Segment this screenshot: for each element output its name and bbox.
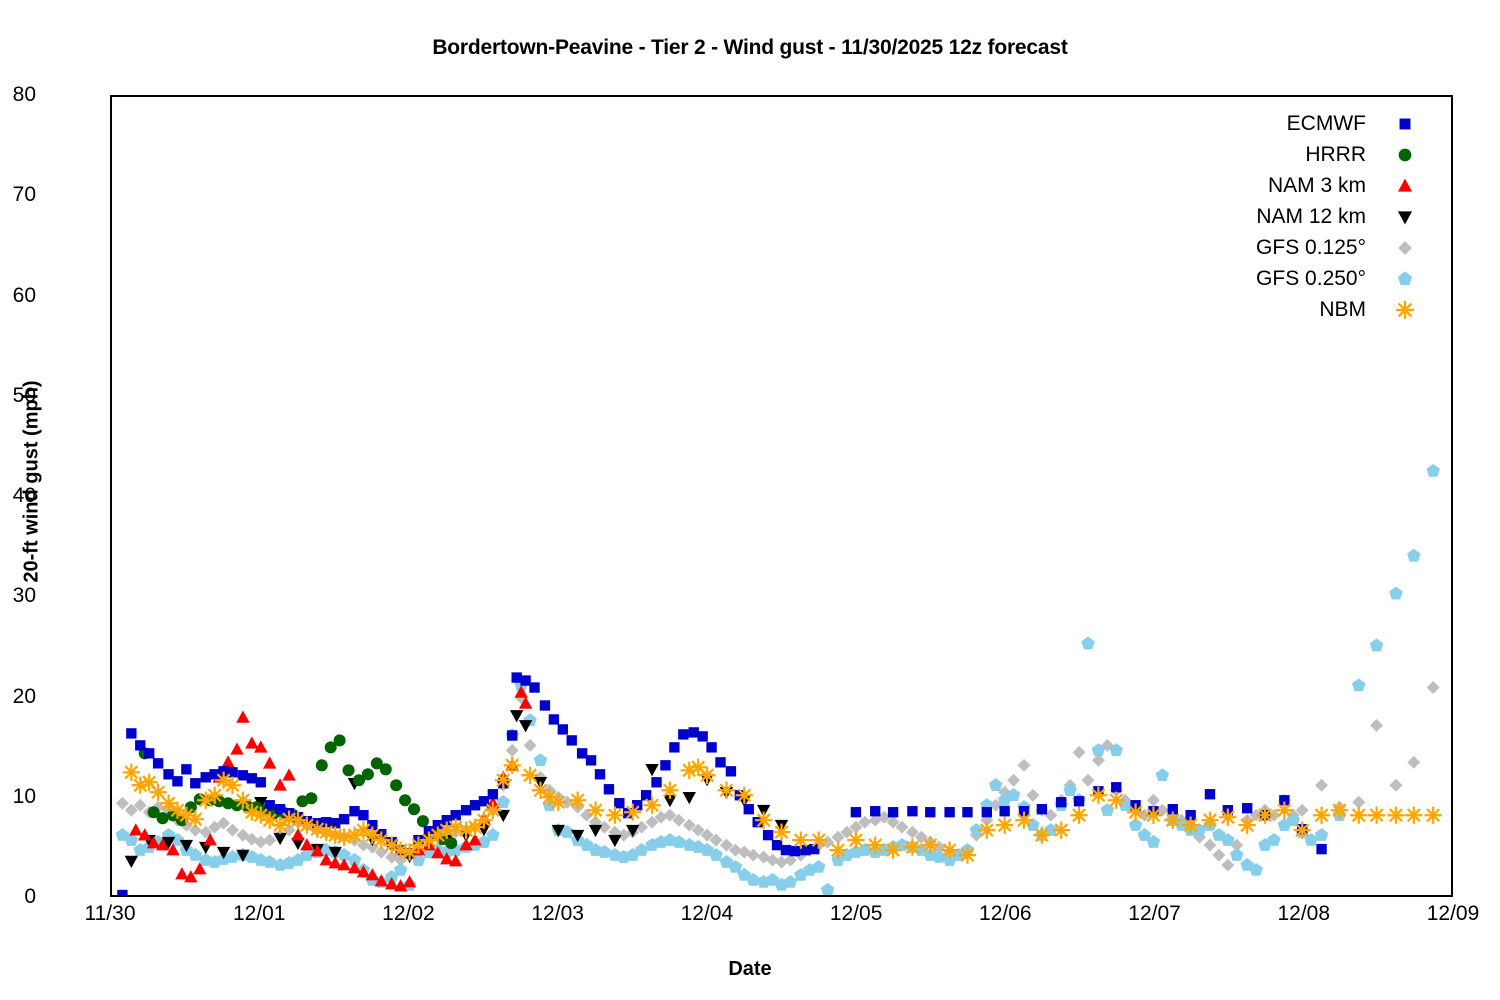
legend-label: GFS 0.125° (1256, 236, 1392, 260)
x-axis-label: Date (0, 958, 1500, 981)
legend-item-nam-3-km[interactable]: NAM 3 km (1150, 170, 1418, 201)
chart-root: Bordertown-Peavine - Tier 2 - Wind gust … (0, 0, 1500, 1000)
legend-marker-diamond-icon (1392, 236, 1418, 260)
y-tick-label: 10 (0, 785, 36, 809)
x-tick-label: 12/05 (776, 902, 936, 926)
x-tick-label: 12/08 (1224, 902, 1384, 926)
legend-label: NAM 3 km (1268, 174, 1392, 198)
legend-item-gfs-0-250[interactable]: GFS 0.250° (1150, 263, 1418, 294)
legend-item-gfs-0-125[interactable]: GFS 0.125° (1150, 232, 1418, 263)
x-tick-label: 12/06 (925, 902, 1085, 926)
legend-marker-pentagon-icon (1392, 267, 1418, 291)
legend-label: GFS 0.250° (1256, 267, 1392, 291)
legend-marker-asterisk-icon (1392, 298, 1418, 322)
x-tick-label: 11/30 (30, 902, 190, 926)
y-tick-label: 50 (0, 384, 36, 408)
y-tick-label: 30 (0, 584, 36, 608)
x-tick-label: 12/01 (179, 902, 339, 926)
y-tick-label: 70 (0, 183, 36, 207)
legend-item-nbm[interactable]: NBM (1150, 294, 1418, 325)
legend-marker-triangle-up-icon (1392, 174, 1418, 198)
x-tick-label: 12/02 (328, 902, 488, 926)
legend-item-ecmwf[interactable]: ECMWF (1150, 108, 1418, 139)
x-tick-label: 12/07 (1075, 902, 1235, 926)
legend-label: NAM 12 km (1256, 205, 1392, 229)
legend-marker-triangle-down-icon (1392, 205, 1418, 229)
y-tick-label: 60 (0, 284, 36, 308)
legend-label: NBM (1319, 298, 1392, 322)
chart-legend: ECMWFHRRRNAM 3 kmNAM 12 kmGFS 0.125°GFS … (1150, 108, 1418, 325)
y-tick-label: 20 (0, 685, 36, 709)
x-tick-label: 12/09 (1373, 902, 1500, 926)
legend-item-nam-12-km[interactable]: NAM 12 km (1150, 201, 1418, 232)
series-nam-3-km (129, 686, 532, 892)
y-axis-label: 20-ft wind gust (mph) (21, 272, 44, 692)
x-tick-label: 12/04 (627, 902, 787, 926)
legend-marker-square-icon (1392, 112, 1418, 136)
legend-marker-circle-icon (1392, 143, 1418, 167)
y-tick-label: 40 (0, 484, 36, 508)
chart-title: Bordertown-Peavine - Tier 2 - Wind gust … (0, 36, 1500, 60)
legend-label: ECMWF (1287, 112, 1392, 136)
x-tick-label: 12/03 (478, 902, 638, 926)
y-tick-label: 80 (0, 83, 36, 107)
legend-item-hrrr[interactable]: HRRR (1150, 139, 1418, 170)
legend-label: HRRR (1305, 143, 1392, 167)
